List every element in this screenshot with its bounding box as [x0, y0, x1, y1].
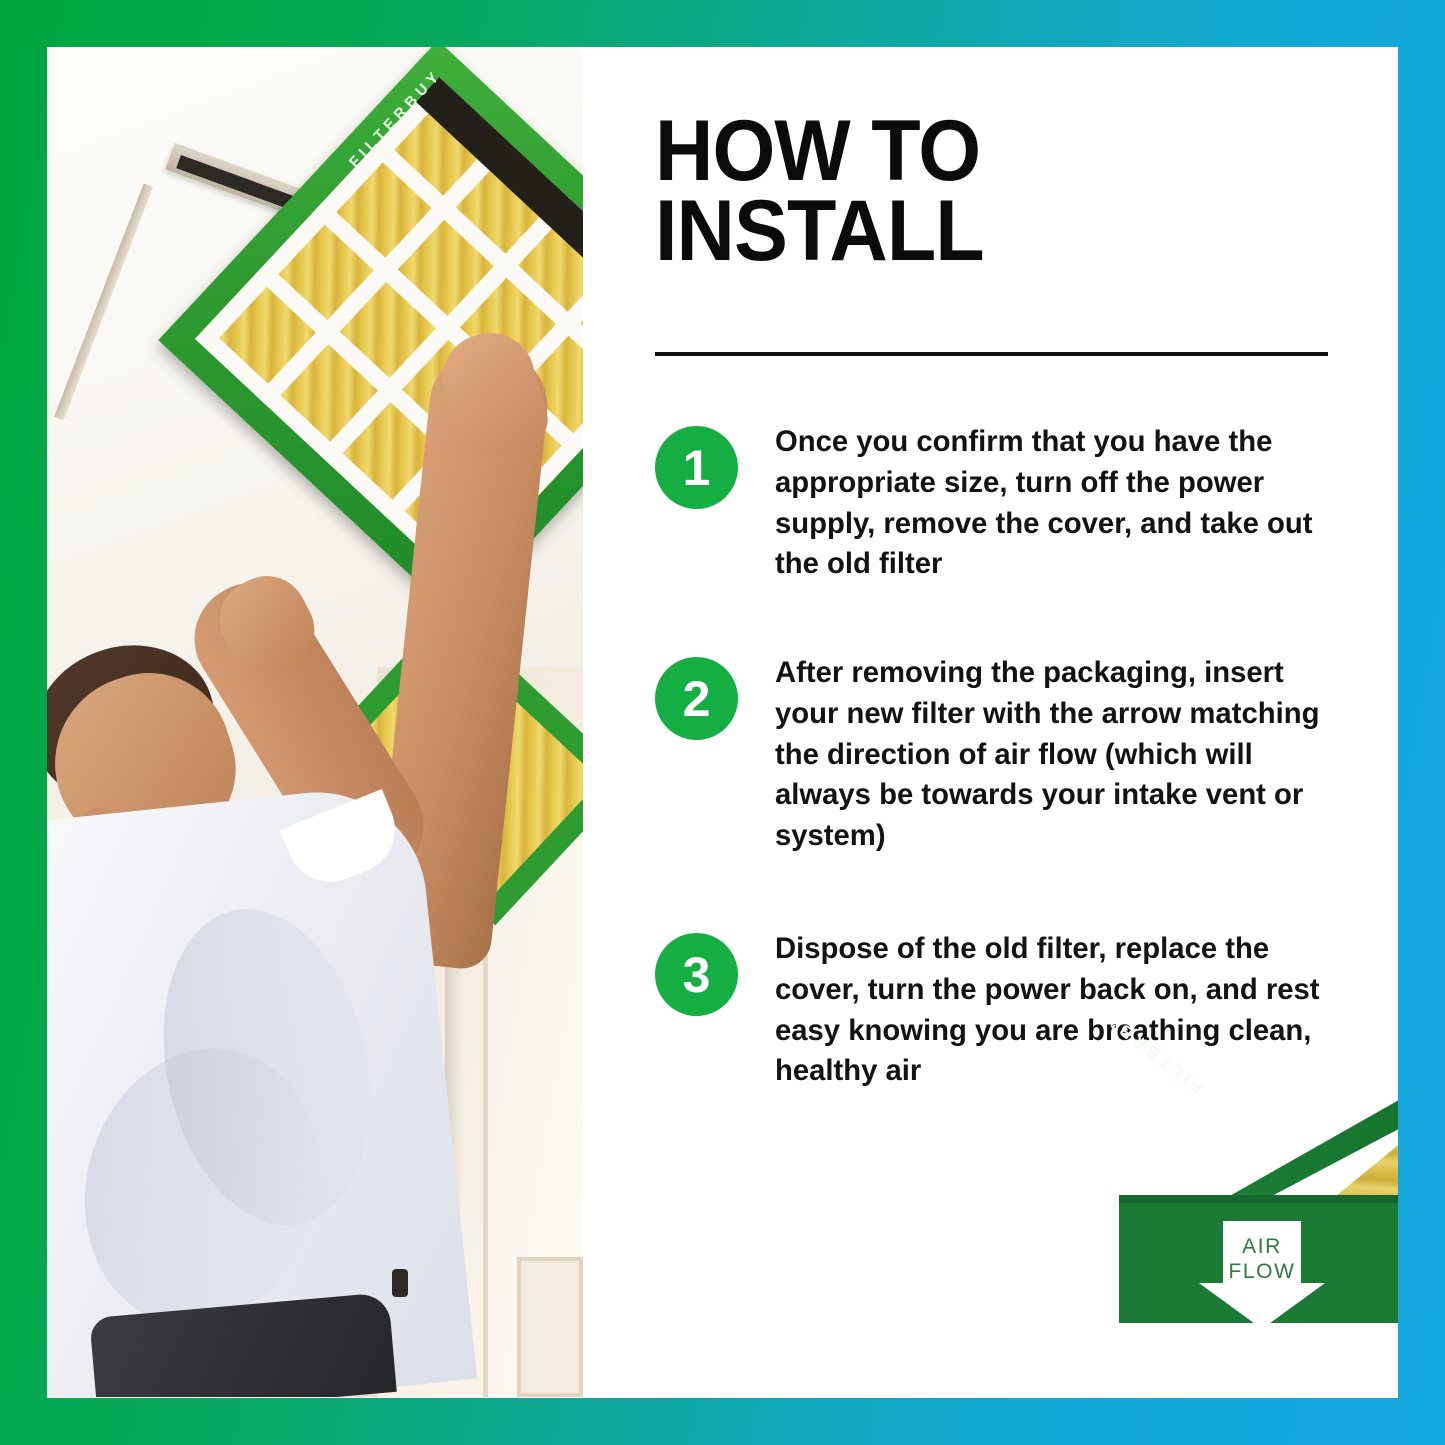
step-number-badge: 2: [655, 657, 738, 740]
air-flow-label-line-2: FLOW: [1228, 1260, 1295, 1283]
page-title: HOW TO INSTALL: [655, 112, 1313, 272]
page-title-line-2: INSTALL: [655, 183, 984, 279]
step-text: After removing the packaging, insert you…: [775, 653, 1341, 857]
step-item: 1 Once you confirm that you have the app…: [655, 422, 1355, 585]
step-text: Once you confirm that you have the appro…: [775, 422, 1341, 585]
photo-door-knob: [392, 1269, 408, 1297]
step-number-badge: 1: [655, 426, 738, 509]
product-filter-image: FILTERBUY AIR FLOW: [1111, 1025, 1398, 1350]
step-number-badge: 3: [655, 933, 738, 1016]
photo-door-panel: [517, 1257, 583, 1397]
air-flow-label-line-1: AIR: [1242, 1235, 1282, 1258]
installation-photo: FILTERBUY FILTERBUY: [47, 47, 583, 1397]
air-flow-arrow: AIR FLOW: [1199, 1221, 1325, 1329]
content-canvas: FILTERBUY FILTERBUY HOW TO INSTALL: [47, 47, 1398, 1398]
product-brand-label: FILTERBUY: [1111, 1025, 1207, 1097]
gradient-border-frame: FILTERBUY FILTERBUY HOW TO INSTALL: [0, 0, 1445, 1445]
step-item: 2 After removing the packaging, insert y…: [655, 653, 1355, 857]
title-divider: [655, 352, 1328, 356]
air-flow-label: AIR FLOW: [1199, 1235, 1325, 1285]
